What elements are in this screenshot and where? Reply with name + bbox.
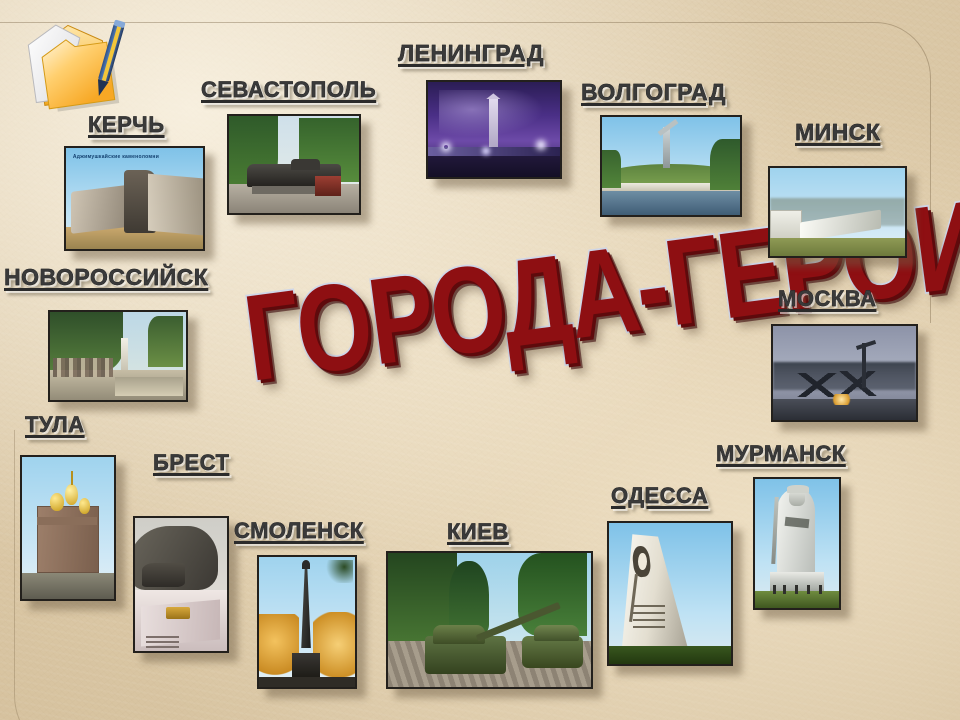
city-label-7: ТУЛА [25,412,85,438]
city-photo-5[interactable] [771,324,918,422]
city-label-1: СЕВАСТОПОЛЬ [201,77,376,103]
city-label-6: НОВОРОССИЙСК [4,264,208,291]
city-photo-2[interactable] [426,80,562,179]
city-photo-8[interactable] [133,516,229,653]
city-label-3: ВОЛГОГРАД [581,79,726,106]
city-label-2: ЛЕНИНГРАД [398,40,544,67]
city-label-5: МОСКВА [778,286,876,312]
city-photo-11[interactable] [607,521,733,666]
city-label-4: МИНСК [795,119,880,146]
city-photo-6[interactable] [48,310,188,402]
city-label-9: СМОЛЕНСК [234,518,364,544]
city-photo-0[interactable]: Аджимушкайские каменоломни [64,146,205,251]
city-photo-1[interactable] [227,114,361,215]
slide-canvas: ГОРОДА-ГЕРОИ КЕРЧЬ Аджимушкайские камено… [0,0,960,720]
city-photo-10[interactable] [386,551,593,689]
city-label-11: ОДЕССА [611,483,708,509]
city-photo-7[interactable] [20,455,116,601]
city-label-12: МУРМАНСК [716,441,846,467]
city-label-0: КЕРЧЬ [88,112,165,138]
city-photo-12[interactable] [753,477,841,610]
city-photo-3[interactable] [600,115,742,217]
city-photo-4[interactable] [768,166,907,258]
city-label-8: БРЕСТ [153,450,229,476]
city-photo-9[interactable] [257,555,357,689]
city-label-10: КИЕВ [447,519,509,545]
